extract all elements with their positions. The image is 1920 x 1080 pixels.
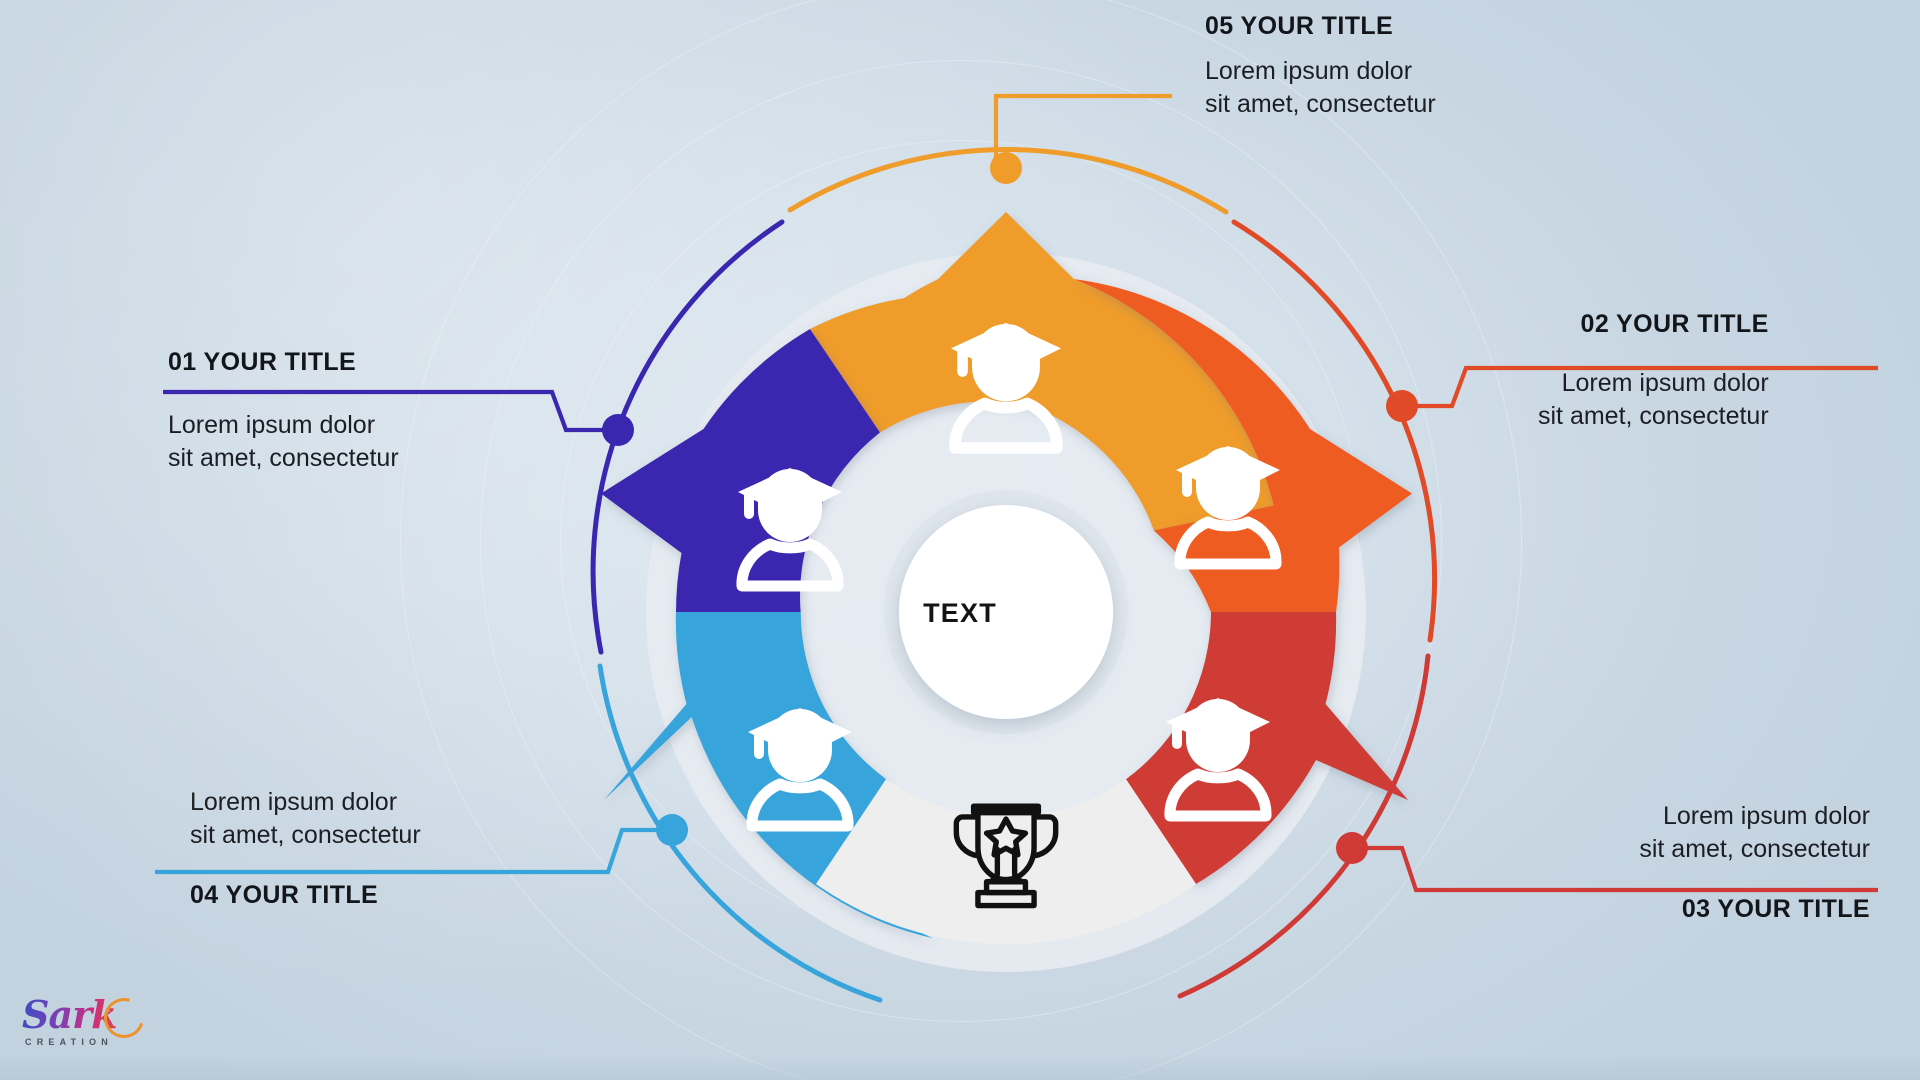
callout-05-body-line-1: Lorem ipsum dolor	[1205, 55, 1436, 88]
callout-02-body-line-1: Lorem ipsum dolor	[1538, 367, 1769, 400]
callout-02[interactable]: 02 YOUR TITLE Lorem ipsum dolor sit amet…	[1538, 310, 1769, 432]
node-dot-01[interactable]	[602, 414, 634, 446]
brand-logo[interactable]: Sark CREATION	[22, 996, 150, 1058]
node-dot-02[interactable]	[1386, 390, 1418, 422]
callout-04-body-line-2: sit amet, consectetur	[190, 819, 421, 852]
callout-04-body-line-1: Lorem ipsum dolor	[190, 786, 421, 819]
callout-01-body-line-1: Lorem ipsum dolor	[168, 409, 399, 442]
callout-02-body-line-2: sit amet, consectetur	[1538, 400, 1769, 433]
node-dot-05[interactable]	[990, 152, 1022, 184]
callout-03-body-line-2: sit amet, consectetur	[1300, 833, 1870, 866]
callout-05[interactable]: 05 YOUR TITLE Lorem ipsum dolor sit amet…	[1205, 12, 1436, 120]
callout-02-title: 02 YOUR TITLE	[1538, 310, 1769, 339]
callout-05-title: 05 YOUR TITLE	[1205, 12, 1436, 41]
callout-01-title: 01 YOUR TITLE	[168, 348, 399, 377]
slide-canvas: TEXT 05 YOUR TITLE Lorem ipsum dolor sit…	[0, 0, 1920, 1080]
callout-01[interactable]: 01 YOUR TITLE Lorem ipsum dolor sit amet…	[168, 348, 399, 474]
callout-03-body-line-1: Lorem ipsum dolor	[1300, 800, 1870, 833]
node-dot-04[interactable]	[656, 814, 688, 846]
center-text-label: TEXT	[0, 598, 1920, 629]
callout-05-body-line-2: sit amet, consectetur	[1205, 88, 1436, 121]
callout-01-body-line-2: sit amet, consectetur	[168, 442, 399, 475]
logo-subtitle: CREATION	[25, 1037, 150, 1047]
callout-03[interactable]: Lorem ipsum dolor sit amet, consectetur …	[1300, 800, 1870, 924]
callout-03-title: 03 YOUR TITLE	[1300, 895, 1870, 924]
callout-04[interactable]: Lorem ipsum dolor sit amet, consectetur …	[190, 786, 421, 910]
callout-04-title: 04 YOUR TITLE	[190, 881, 421, 910]
